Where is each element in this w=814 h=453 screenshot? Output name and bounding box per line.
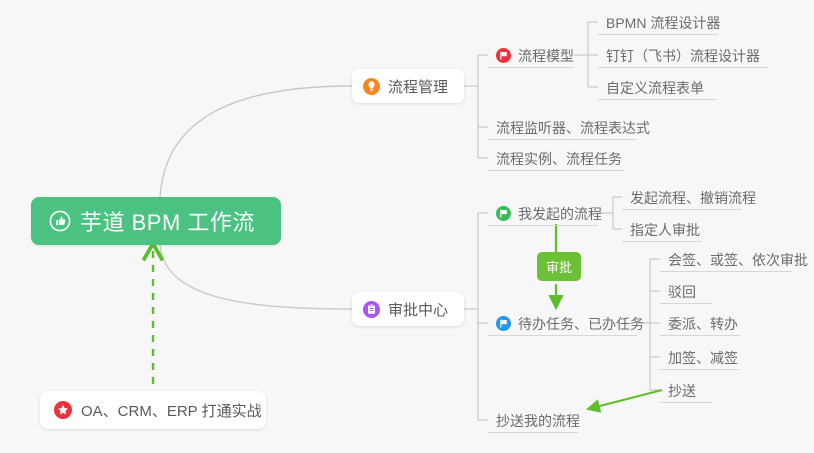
node-assignee-approval[interactable]: 指定人审批	[622, 212, 702, 242]
node-process-instance[interactable]: 流程实例、流程任务	[488, 141, 624, 171]
node-label: 加签、减签	[668, 351, 738, 366]
flag-green-icon	[496, 206, 511, 221]
node-label: BPMN 流程设计器	[606, 16, 720, 31]
approval-flow-callout: 审批	[537, 252, 581, 281]
node-process-listener[interactable]: 流程监听器、流程表达式	[488, 110, 636, 140]
approval-flow-label: 审批	[546, 260, 572, 275]
node-cc[interactable]: 抄送	[660, 373, 712, 403]
node-label: 流程模型	[518, 49, 574, 64]
node-label: 抄送	[668, 384, 696, 399]
node-todo-done-tasks[interactable]: 待办任务、已办任务	[488, 306, 637, 336]
node-cc-to-me[interactable]: 抄送我的流程	[488, 403, 578, 433]
bottom-note-card[interactable]: OA、CRM、ERP 打通实战	[40, 391, 266, 429]
node-label: 驳回	[668, 285, 696, 300]
node-process-model[interactable]: 流程模型	[488, 38, 574, 68]
node-label: 流程实例、流程任务	[496, 152, 622, 167]
star-red-icon	[54, 401, 72, 419]
node-delegate-transfer[interactable]: 委派、转办	[660, 306, 740, 336]
branch-approval-center[interactable]: 审批中心	[352, 292, 464, 326]
mindmap-canvas: 芋道 BPM 工作流 流程管理 流程模型 BPMN 流程设计器 钉钉（飞书	[0, 0, 814, 453]
node-label: 会签、或签、依次审批	[668, 253, 808, 268]
node-label: 指定人审批	[630, 223, 700, 238]
clipboard-icon	[363, 301, 380, 318]
root-node[interactable]: 芋道 BPM 工作流	[31, 197, 281, 245]
root-label: 芋道 BPM 工作流	[80, 205, 255, 237]
branch-process-management[interactable]: 流程管理	[352, 69, 464, 103]
bottom-note-label: OA、CRM、ERP 打通实战	[81, 400, 262, 421]
node-label: 流程监听器、流程表达式	[496, 121, 650, 136]
branch-label: 审批中心	[388, 299, 448, 320]
branch-label: 流程管理	[388, 76, 448, 97]
node-my-initiated[interactable]: 我发起的流程	[488, 196, 598, 226]
node-bpmn-designer[interactable]: BPMN 流程设计器	[598, 5, 718, 35]
node-dingtalk-designer[interactable]: 钉钉（飞书）流程设计器	[598, 38, 768, 68]
node-label: 抄送我的流程	[496, 414, 580, 429]
node-label: 待办任务、已办任务	[518, 317, 644, 332]
node-label: 发起流程、撤销流程	[630, 191, 756, 206]
flag-blue-icon	[496, 316, 511, 331]
thumbs-up-icon	[49, 210, 71, 232]
node-label: 委派、转办	[668, 317, 738, 332]
lightbulb-icon	[363, 78, 380, 95]
flag-red-icon	[496, 48, 511, 63]
node-add-remove-sign[interactable]: 加签、减签	[660, 340, 740, 370]
node-label: 钉钉（飞书）流程设计器	[606, 49, 760, 64]
node-start-cancel-process[interactable]: 发起流程、撤销流程	[622, 180, 742, 210]
node-custom-form[interactable]: 自定义流程表单	[598, 70, 716, 100]
node-reject[interactable]: 驳回	[660, 274, 712, 304]
node-label: 我发起的流程	[518, 207, 602, 222]
node-countersign[interactable]: 会签、或签、依次审批	[660, 242, 792, 272]
node-label: 自定义流程表单	[606, 81, 704, 96]
